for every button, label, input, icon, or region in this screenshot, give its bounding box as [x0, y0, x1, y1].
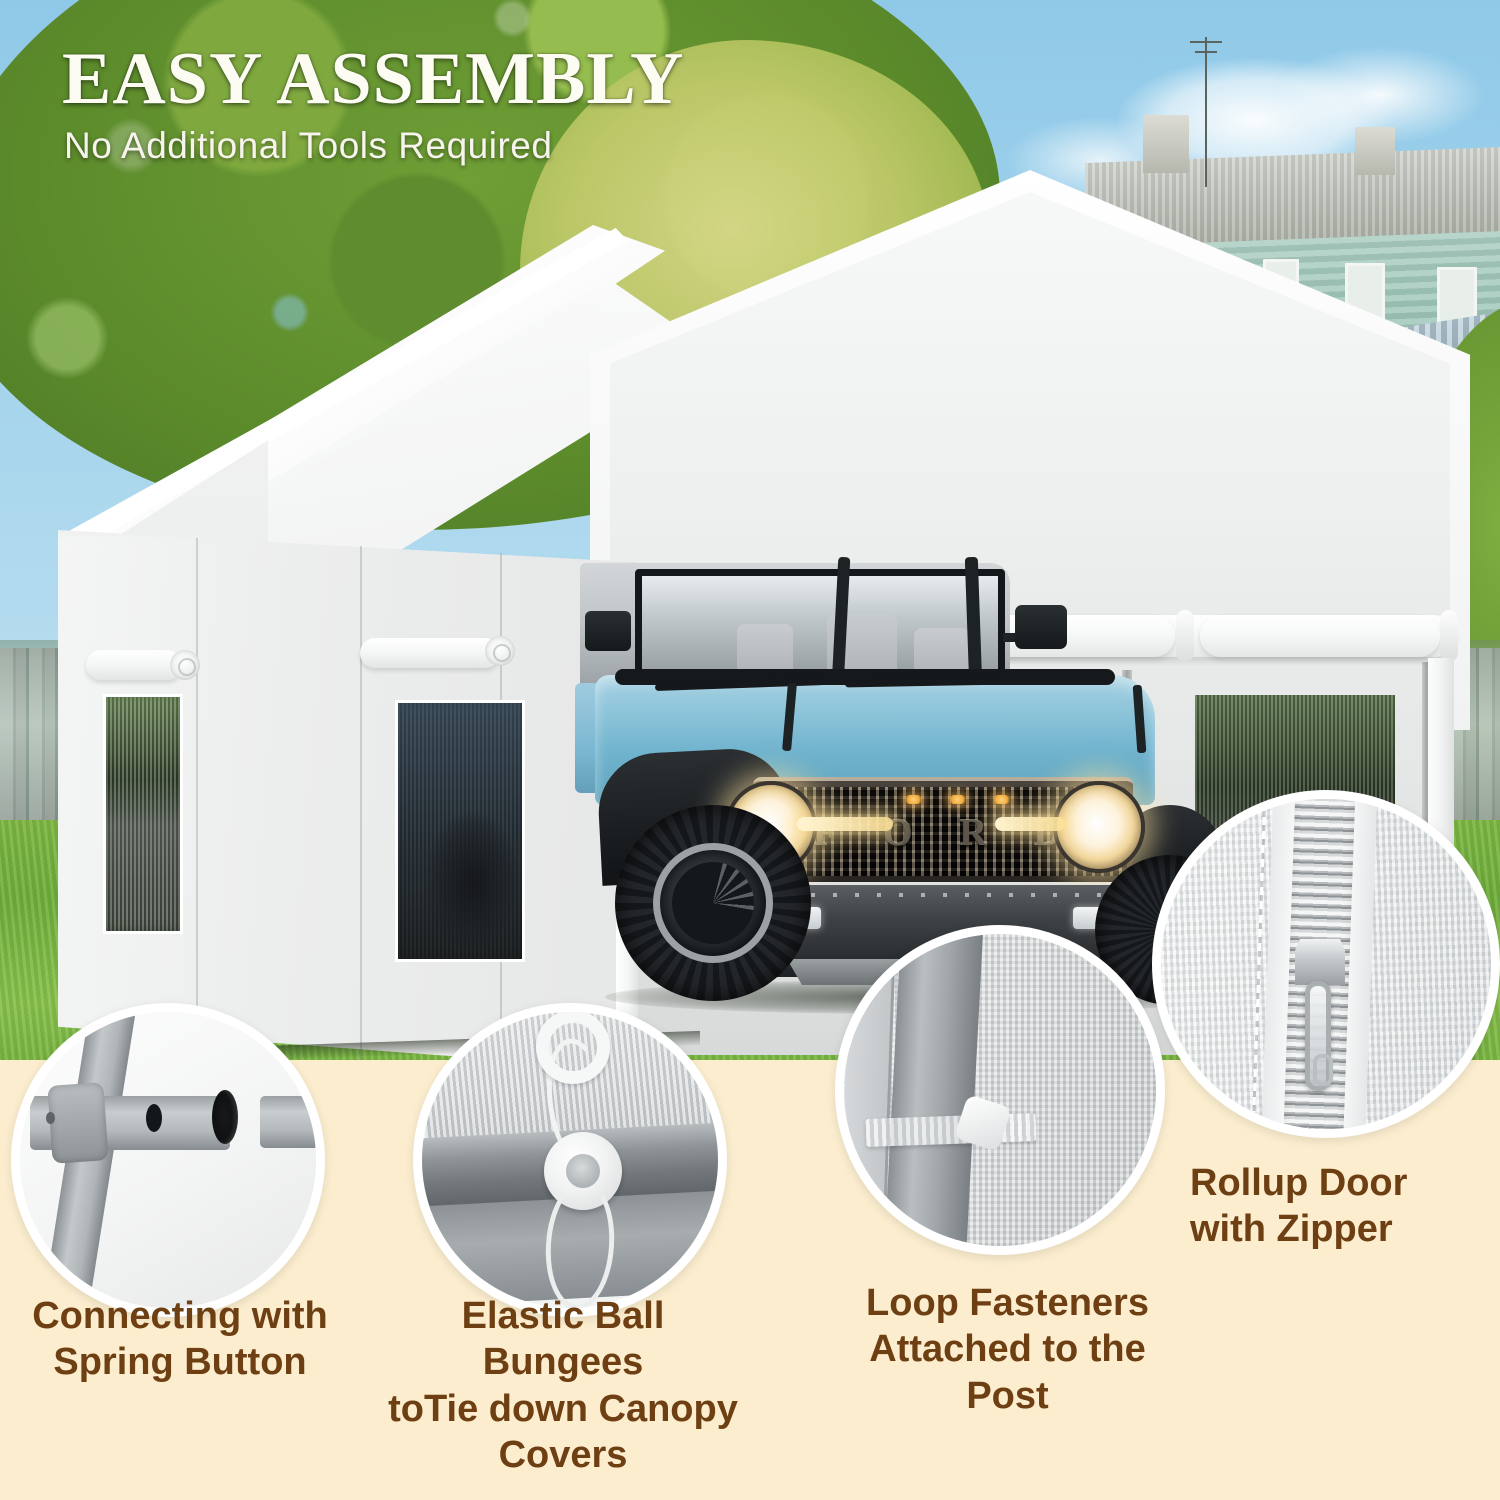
grille-marker-light: [949, 795, 966, 804]
rolled-up-door-end: [170, 650, 200, 680]
rolled-up-door-panel: [360, 638, 500, 668]
callout-image-rollup-zipper: [1161, 799, 1491, 1129]
caption-line: Attached to the Post: [835, 1326, 1180, 1419]
caption-line: Covers: [378, 1432, 748, 1478]
loop-fastener-strap: [866, 1113, 1037, 1147]
vehicle-side-mirror: [585, 611, 631, 651]
caption-line: with Zipper: [1190, 1206, 1490, 1252]
vehicle-wheel-rim: [653, 843, 773, 963]
fabric-grommet-ring: [536, 1010, 610, 1084]
vehicle-daytime-running-light: [797, 817, 893, 831]
grille-marker-light: [905, 795, 922, 804]
callout-circle-loop-fastener: [835, 925, 1165, 1255]
rolled-up-door-panel: [86, 650, 182, 680]
callout-image-spring-button: [20, 1012, 316, 1308]
caption-line: Rollup Door: [1190, 1160, 1490, 1206]
callout-circle-ball-bungee: [413, 1003, 727, 1317]
caption-line: Loop Fasteners: [835, 1280, 1180, 1326]
tube-hole: [46, 1112, 55, 1124]
vehicle-headlight: [1053, 781, 1145, 873]
vehicle-windshield: [635, 569, 1005, 679]
rolled-up-door-panel: [1200, 615, 1440, 657]
tube-cross-connector: [47, 1082, 108, 1164]
caption-loop-fastener: Loop Fasteners Attached to the Post: [835, 1280, 1180, 1419]
callout-image-ball-bungee: [422, 1012, 718, 1308]
rolled-up-door-end: [485, 636, 515, 666]
callout-circle-spring-button: [11, 1003, 325, 1317]
mesh-window: [103, 694, 183, 934]
caption-line: Spring Button: [20, 1339, 340, 1385]
callout-circle-rollup-zipper: [1152, 790, 1500, 1138]
vehicle-side-mirror: [1015, 605, 1067, 649]
tube-open-end: [212, 1090, 238, 1144]
caption-line: toTie down Canopy: [378, 1386, 748, 1432]
caption-line: Connecting with: [20, 1293, 340, 1339]
caption-ball-bungee: Elastic Ball Bungees toTie down Canopy C…: [378, 1293, 748, 1478]
roll-tie-strap: [1440, 610, 1458, 662]
brand-letter-r: R: [959, 814, 988, 852]
caption-spring-button: Connecting with Spring Button: [20, 1293, 340, 1386]
tube-hole: [146, 1104, 162, 1132]
caption-line: Elastic Ball Bungees: [378, 1293, 748, 1386]
product-feature-infographic: F O R D EASY ASSEMBLY No Add: [0, 0, 1500, 1500]
grille-marker-light: [993, 795, 1010, 804]
zipper-slider: [1295, 939, 1345, 985]
page-subtitle: No Additional Tools Required: [64, 126, 552, 167]
mesh-window: [395, 700, 525, 962]
wheel-spokes: [672, 862, 754, 944]
caption-rollup-zipper: Rollup Door with Zipper: [1190, 1160, 1490, 1253]
vehicle-daytime-running-light: [995, 817, 1065, 831]
zipper-pull-tab: [1305, 981, 1331, 1091]
page-title: EASY ASSEMBLY: [62, 42, 684, 116]
callout-image-loop-fastener: [844, 934, 1156, 1246]
